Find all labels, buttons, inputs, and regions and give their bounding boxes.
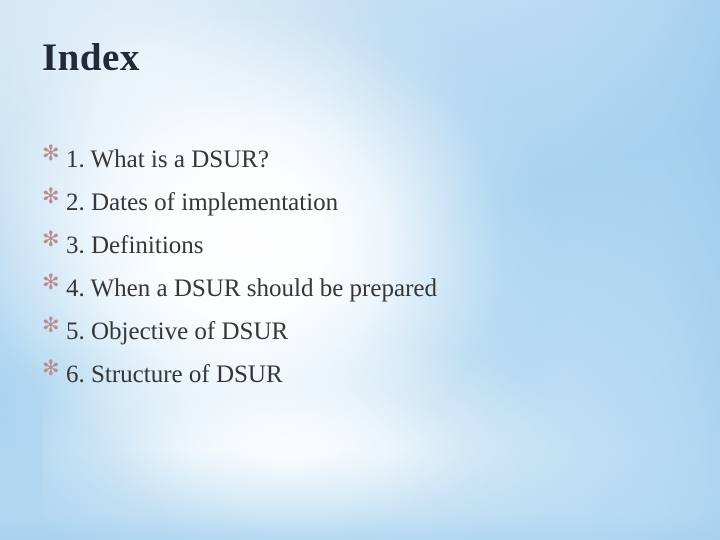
- list-item-label: 1. What is a DSUR?: [66, 146, 269, 173]
- page-title: Index: [42, 38, 140, 79]
- list-item[interactable]: ✻ 3. Definitions: [42, 227, 680, 270]
- list-item-label: 3. Definitions: [66, 232, 204, 259]
- presentation-slide: Index ✻ 1. What is a DSUR? ✻ 2. Dates of…: [0, 0, 720, 540]
- slide-content: Index ✻ 1. What is a DSUR? ✻ 2. Dates of…: [0, 0, 720, 540]
- list-item-label: 6. Structure of DSUR: [66, 361, 283, 388]
- list-item-label: 2. Dates of implementation: [66, 189, 338, 216]
- list-item[interactable]: ✻ 2. Dates of implementation: [42, 184, 680, 227]
- asterisk-bullet-icon: ✻: [42, 354, 62, 382]
- asterisk-bullet-icon: ✻: [42, 268, 62, 296]
- list-item[interactable]: ✻ 1. What is a DSUR?: [42, 141, 680, 184]
- list-item[interactable]: ✻ 5. Objective of DSUR: [42, 313, 680, 356]
- asterisk-bullet-icon: ✻: [42, 182, 62, 210]
- index-list: ✻ 1. What is a DSUR? ✻ 2. Dates of imple…: [42, 141, 680, 399]
- asterisk-bullet-icon: ✻: [42, 139, 62, 167]
- list-item[interactable]: ✻ 4. When a DSUR should be prepared: [42, 270, 680, 313]
- list-item[interactable]: ✻ 6. Structure of DSUR: [42, 356, 680, 399]
- list-item-label: 4. When a DSUR should be prepared: [66, 275, 437, 302]
- asterisk-bullet-icon: ✻: [42, 225, 62, 253]
- asterisk-bullet-icon: ✻: [42, 311, 62, 339]
- list-item-label: 5. Objective of DSUR: [66, 318, 288, 345]
